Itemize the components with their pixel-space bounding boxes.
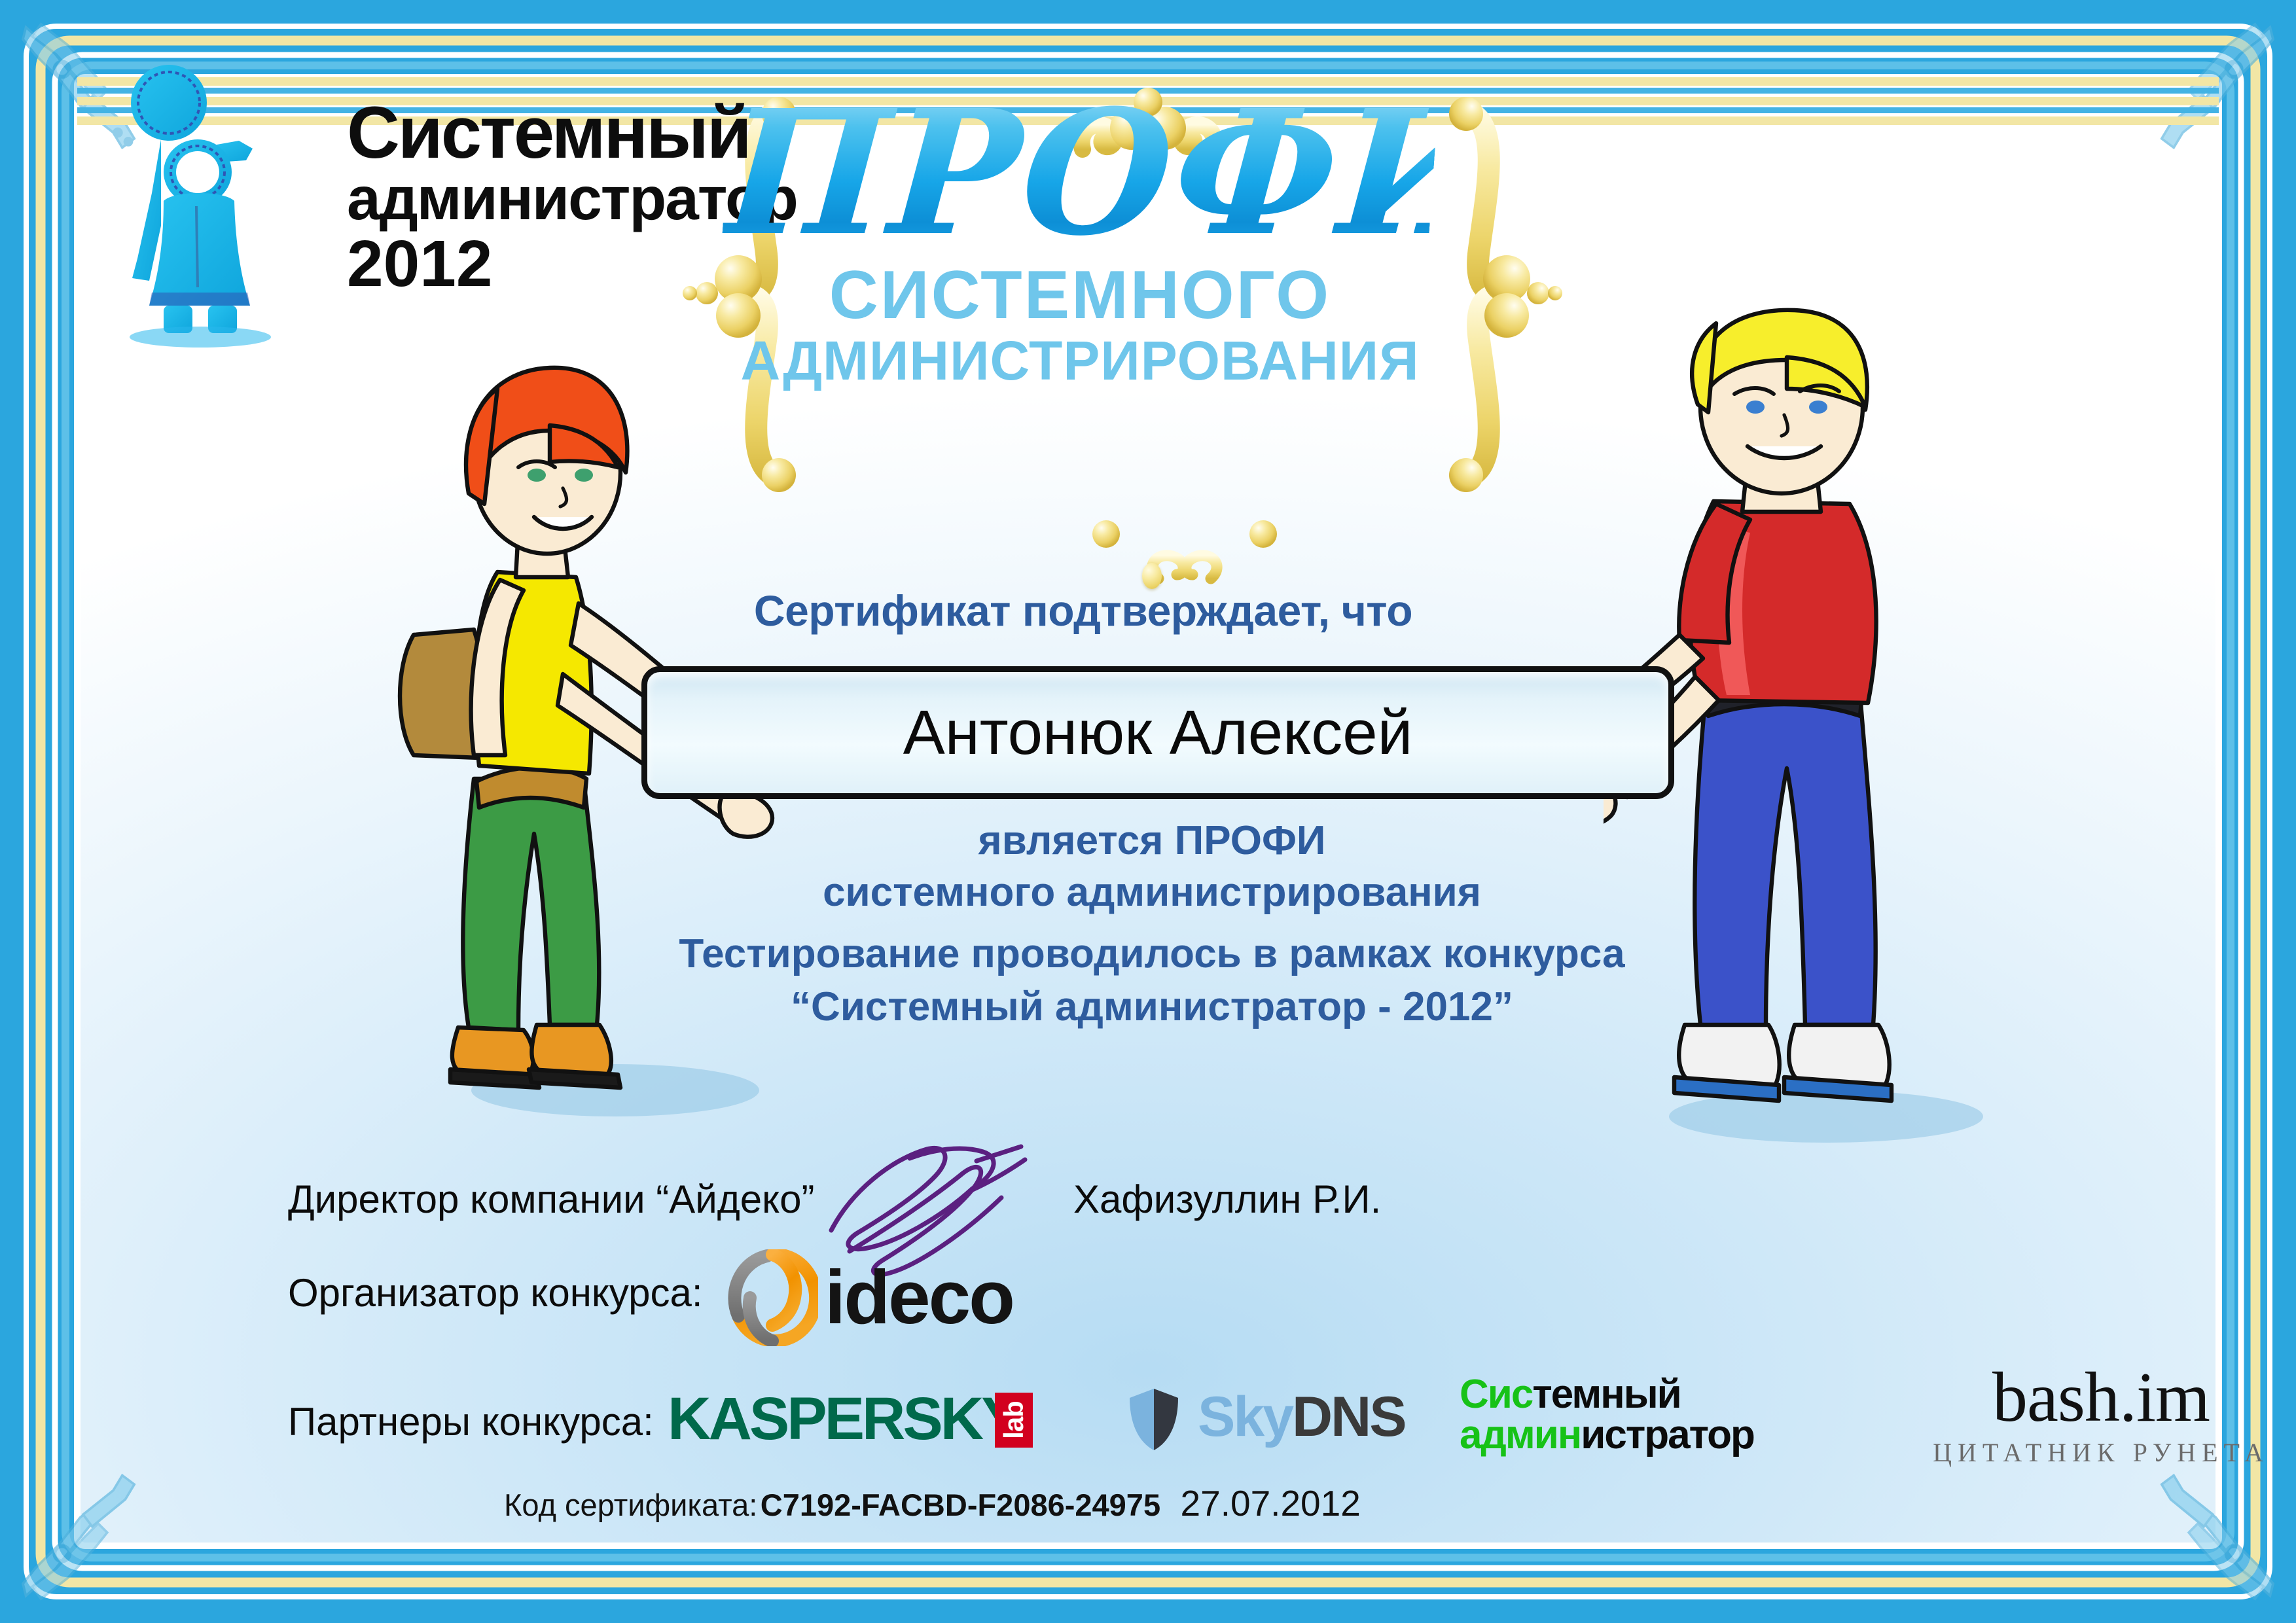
- sysadmin-line2: администратор: [1460, 1415, 1813, 1455]
- contest-logo: Системный администратор 2012: [98, 36, 668, 363]
- ideco-logo: ideco: [726, 1249, 1093, 1347]
- body-line-1: является ПРОФИ: [655, 815, 1649, 866]
- pliers-icon: [2138, 1463, 2288, 1614]
- organizer-row: Организатор конкурса: ideco: [288, 1253, 1270, 1351]
- gold-dot-icon: [1142, 563, 1162, 589]
- kaspersky-logo-icon: KASPERSKY lab: [668, 1381, 1060, 1459]
- pliers-icon: [8, 1463, 158, 1614]
- code-value: C7192-FACBD-F2086-24975: [761, 1488, 1160, 1522]
- contest-logo-line2: администратор: [347, 168, 772, 230]
- sysadmin-line2-black: истратор: [1581, 1412, 1754, 1457]
- eskimo-mascot-icon: [98, 62, 334, 350]
- contest-logo-line3: 2012: [347, 230, 772, 298]
- issue-date: 27.07.2012: [1181, 1483, 1361, 1524]
- certificate-page: Системный администратор 2012 ПРОФИ СИСТЕ…: [0, 0, 2296, 1623]
- recipient-name: Антонюк Алексей: [903, 697, 1413, 769]
- contest-logo-line1: Системный: [347, 98, 772, 168]
- director-label: Директор компании “Айдеко”: [288, 1177, 814, 1222]
- partners-label: Партнеры конкурса:: [288, 1399, 654, 1444]
- skydns-word-sky: Sky: [1198, 1385, 1292, 1448]
- bashim-logo-icon: bash.im ЦИТАТНИК РУНЕТА: [1918, 1363, 2284, 1474]
- title-subline-2: АДМИНИСТРИРОВАНИЯ: [726, 332, 1433, 390]
- page-title: ПРОФИ: [721, 92, 1439, 255]
- sysadmin-logo-icon: Системный администратор: [1460, 1374, 1813, 1472]
- kaspersky-lab-text: lab: [998, 1401, 1030, 1439]
- body-line-3: Тестирование проводилось в рамках конкур…: [655, 927, 1649, 981]
- kaspersky-lab-badge: lab: [995, 1393, 1033, 1448]
- bashim-wordmark: bash.im: [1918, 1363, 2284, 1433]
- sysadmin-line1-green: Сис: [1460, 1372, 1532, 1417]
- bashim-tagline: ЦИТАТНИК РУНЕТА: [1918, 1437, 2284, 1468]
- confirm-text: Сертификат подтверждает, что: [740, 586, 1427, 635]
- skydns-word-dns: DNS: [1292, 1385, 1405, 1448]
- sysadmin-line2-green: админ: [1460, 1412, 1581, 1457]
- ideco-swirl-icon: [726, 1249, 818, 1346]
- title-block: ПРОФИ СИСТЕМНОГО АДМИНИСТРИРОВАНИЯ: [726, 92, 1433, 390]
- certificate-body: является ПРОФИ системного администрирова…: [655, 815, 1649, 1033]
- skydns-logo: SkyDNS: [1126, 1382, 1401, 1461]
- director-row: Директор компании “Айдеко” Хафизуллин Р.…: [288, 1158, 1401, 1243]
- kaspersky-wordmark: KASPERSKY: [668, 1385, 1019, 1454]
- organizer-label: Организатор конкурса:: [288, 1270, 703, 1315]
- code-label: Код сертификата:: [504, 1488, 757, 1522]
- skydns-wordmark: SkyDNS: [1198, 1385, 1405, 1450]
- sysadmin-line1-black: темный: [1532, 1372, 1680, 1417]
- skydns-shield-icon: [1126, 1386, 1182, 1454]
- certificate-code-row: Код сертификата: C7192-FACBD-F2086-24975…: [504, 1482, 1420, 1524]
- body-line-2: системного администрирования: [655, 866, 1649, 918]
- gold-flourish-bottom-icon: [1086, 517, 1283, 589]
- ideco-wordmark: ideco: [825, 1253, 1013, 1341]
- body-line-4: “Системный администратор - 2012”: [655, 981, 1649, 1034]
- partners-row: Партнеры конкурса: KASPERSKY lab SkyDNS …: [288, 1368, 2251, 1479]
- recipient-nameplate: Антонюк Алексей: [641, 666, 1674, 799]
- sysadmin-line1: Системный: [1460, 1374, 1813, 1415]
- director-name: Хафизуллин Р.И.: [1073, 1177, 1381, 1222]
